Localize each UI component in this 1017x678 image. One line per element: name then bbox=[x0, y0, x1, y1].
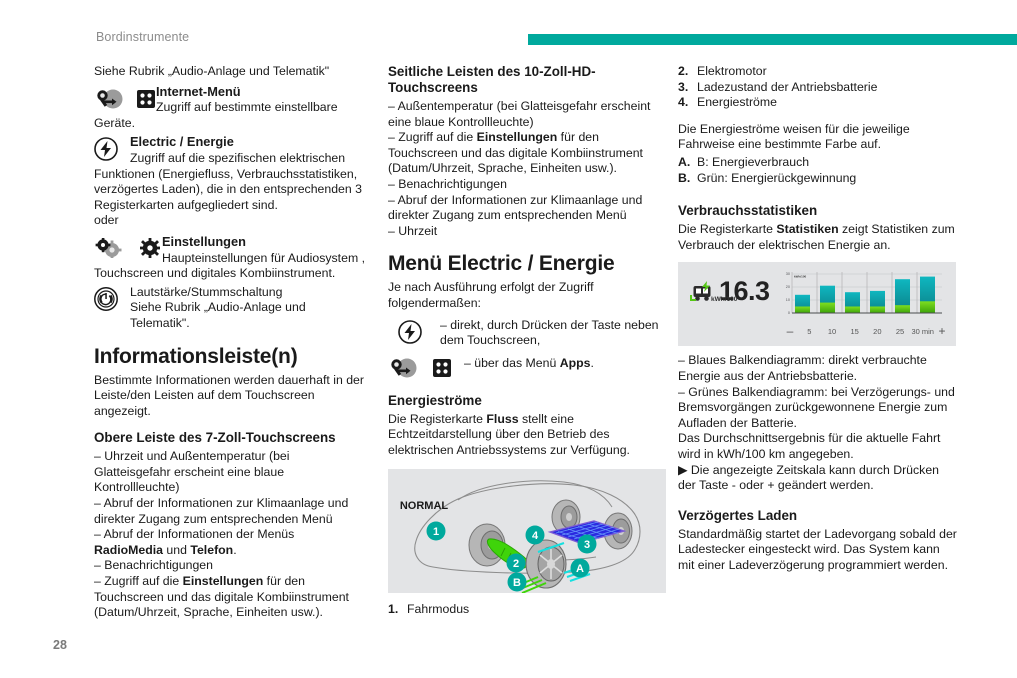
svg-text:3: 3 bbox=[584, 539, 590, 551]
settings-text: Einstellungen Haupteinstellungen für Aud… bbox=[162, 234, 366, 266]
bullet-radio-mid: und bbox=[163, 543, 190, 557]
menu-electric-icon-wrap bbox=[388, 318, 440, 344]
entry-settings: Einstellungen Haupteinstellungen für Aud… bbox=[94, 234, 366, 266]
electric-energy-icon bbox=[398, 320, 422, 344]
column-left: Siehe Rubrik „Audio-Anlage und Telematik… bbox=[94, 64, 366, 621]
internet-menu-desc-cont: Geräte. bbox=[94, 116, 366, 132]
list-item: 3. Ladezustand der Antriebsbatterie bbox=[678, 80, 958, 96]
callout-B: B bbox=[508, 572, 527, 591]
verbrauch-bold: Statistiken bbox=[776, 222, 838, 236]
volume-line2: Siehe Rubrik „Audio-Anlage und Telematik… bbox=[130, 300, 306, 330]
caption-number: 1. bbox=[388, 602, 407, 618]
double-gear-icon bbox=[94, 238, 124, 258]
bullet-klimaanlage: – Abruf der Informationen zur Klimaanlag… bbox=[94, 496, 366, 527]
item-label: B: Energieverbrauch bbox=[697, 155, 958, 171]
gear-icon bbox=[140, 238, 160, 258]
bullet-uhrzeit-aussentemp: – Uhrzeit und Außentemperatur (bei Glatt… bbox=[94, 449, 366, 496]
apps-opt-bold: Apps bbox=[560, 356, 591, 370]
entry-volume-mute: Lautstärke/Stummschaltung Siehe Rubrik „… bbox=[94, 285, 366, 332]
c2-settings-pre: – Zugriff auf die bbox=[388, 130, 477, 144]
decrease-timescale-button[interactable]: – bbox=[782, 324, 798, 340]
bullet-benachrichtigungen: – Benachrichtigungen bbox=[94, 558, 366, 574]
axis-tick: 15 bbox=[843, 324, 866, 340]
menu-option-direct: – direkt, durch Drücken der Taste neben … bbox=[388, 318, 666, 349]
energy-flow-illustration: NORMAL 1 4 2 3 A bbox=[388, 469, 666, 593]
svg-text:B: B bbox=[513, 577, 521, 589]
internet-menu-icons bbox=[94, 84, 156, 110]
callout-4: 4 bbox=[526, 525, 545, 544]
electric-line1: Zugriff auf die spezifischen elektrische… bbox=[130, 151, 345, 165]
column-middle: Seitliche Leisten des 10-Zoll-HD-Touchsc… bbox=[388, 64, 666, 617]
heading-obere-leiste: Obere Leiste des 7-Zoll-Touchscreens bbox=[94, 430, 366, 446]
svg-text:kWh/100: kWh/100 bbox=[794, 275, 807, 279]
bullet-klimaanlage-10zoll: – Abruf der Informationen zur Klimaanlag… bbox=[388, 193, 666, 224]
axis-tick: 30 min bbox=[911, 324, 934, 340]
item-label: Elektromotor bbox=[697, 64, 958, 80]
energie-pre: Die Registerkarte bbox=[388, 412, 486, 426]
electric-title: Electric / Energie bbox=[130, 134, 234, 149]
bullet-radio-end: . bbox=[233, 543, 236, 557]
callout-2: 2 bbox=[507, 553, 526, 572]
electric-line3: verzögertes Laden), die in den entsprech… bbox=[94, 182, 366, 198]
figure-caption-1: 1. Fahrmodus bbox=[388, 602, 666, 618]
list-item: B. Grün: Energierückgewinnung bbox=[678, 171, 958, 187]
electric-text: Electric / Energie Zugriff auf die spezi… bbox=[130, 134, 366, 166]
electric-line4: Registerkarten aufgegliedert sind. bbox=[94, 198, 366, 214]
bullet-benachrichtigungen-10zoll: – Benachrichtigungen bbox=[388, 177, 666, 193]
item-number: 4. bbox=[678, 95, 697, 111]
legend-letter-list: A. B: Energieverbrauch B. Grün: Energier… bbox=[678, 155, 958, 186]
bullet-radiomedia: – Abruf der Informationen der Menüs Radi… bbox=[94, 527, 366, 558]
apps-grid-icon bbox=[137, 90, 155, 108]
svg-text:10: 10 bbox=[786, 298, 790, 302]
apps-opt-post: . bbox=[590, 356, 593, 370]
heading-seitliche-leisten: Seitliche Leisten des 10-Zoll-HD-Touchsc… bbox=[388, 64, 666, 96]
item-number: 2. bbox=[678, 64, 697, 80]
bullet-blaues-balkendiagramm: – Blaues Balkendiagramm: direkt verbrauc… bbox=[678, 353, 958, 384]
settings-line1: Haupteinstellungen für Audiosystem , bbox=[162, 251, 365, 265]
internet-menu-desc: Zugriff auf bestimmte einstellbare bbox=[156, 100, 338, 114]
heading-menu-electric-energie: Menü Electric / Energie bbox=[388, 252, 666, 276]
menu-option-apps: – über das Menü Apps. bbox=[388, 354, 666, 379]
legend-number-list: 2. Elektromotor 3. Ladezustand der Antri… bbox=[678, 64, 958, 111]
intro-reference: Siehe Rubrik „Audio-Anlage und Telematik… bbox=[94, 64, 366, 80]
energiestroeme-paragraph: Die Registerkarte Fluss stellt eine Echt… bbox=[388, 412, 666, 459]
menu-apps-icons bbox=[388, 354, 464, 379]
heading-informationsleisten: Informationsleiste(n) bbox=[94, 345, 366, 369]
apps-grid-icon bbox=[433, 359, 451, 377]
verzoegertes-laden-paragraph: Standardmäßig startet der Ladevorgang so… bbox=[678, 527, 958, 574]
apps-search-icon bbox=[388, 357, 418, 379]
electric-icon-wrap bbox=[94, 134, 130, 161]
item-number: 3. bbox=[678, 80, 697, 96]
bullet-einstellungen-10zoll: – Zugriff auf die Einstellungen für den … bbox=[388, 130, 666, 177]
bullet-settings-bold: Einstellungen bbox=[183, 574, 264, 588]
axis-tick: 20 bbox=[866, 324, 889, 340]
callout-A: A bbox=[571, 558, 590, 577]
svg-text:1: 1 bbox=[433, 526, 439, 538]
item-label: Ladezustand der Antriebsbatterie bbox=[697, 80, 958, 96]
list-item: A. B: Energieverbrauch bbox=[678, 155, 958, 171]
bullet-radio-bold1: RadioMedia bbox=[94, 543, 163, 557]
axis-tick: 25 bbox=[889, 324, 912, 340]
item-label: Energieströme bbox=[697, 95, 958, 111]
volume-text: Lautstärke/Stummschaltung Siehe Rubrik „… bbox=[130, 285, 366, 332]
axis-tick: 10 bbox=[821, 324, 844, 340]
svg-text:20: 20 bbox=[786, 285, 790, 289]
bullet-radio-pre: – Abruf der Informationen der Menüs bbox=[94, 527, 294, 541]
wheel-front-left bbox=[526, 540, 566, 588]
farbe-paragraph: Die Energieströme weisen für die jeweili… bbox=[678, 122, 958, 153]
settings-icons bbox=[94, 234, 162, 258]
callout-1: 1 bbox=[427, 521, 446, 540]
electric-energy-icon bbox=[94, 137, 118, 161]
power-volume-icon bbox=[94, 287, 118, 311]
settings-title: Einstellungen bbox=[162, 234, 246, 249]
volume-line1: Lautstärke/Stummschaltung bbox=[130, 285, 282, 299]
durchschnitt-paragraph: Das Durchschnittsergebnis für die aktuel… bbox=[678, 431, 958, 462]
volume-icon-wrap bbox=[94, 285, 130, 311]
drive-mode-label: NORMAL bbox=[400, 500, 449, 512]
heading-verbrauchsstatistiken: Verbrauchsstatistiken bbox=[678, 203, 958, 219]
entry-electric-energie: Electric / Energie Zugriff auf die spezi… bbox=[94, 134, 366, 166]
item-label: Grün: Energierückgewinnung bbox=[697, 171, 958, 187]
apps-search-icon bbox=[94, 88, 124, 110]
svg-text:30: 30 bbox=[786, 272, 790, 276]
axis-tick: 5 bbox=[798, 324, 821, 340]
list-item: 2. Elektromotor bbox=[678, 64, 958, 80]
entry-internet-menu: Internet-Menü Zugriff auf bestimmte eins… bbox=[94, 84, 366, 116]
energy-flow-figure: NORMAL 1 4 2 3 A bbox=[388, 469, 666, 593]
energie-bold: Fluss bbox=[486, 412, 518, 426]
settings-line2: Touchscreen und digitales Kombiinstrumen… bbox=[94, 266, 366, 282]
apps-opt-pre: – über das Menü bbox=[464, 356, 560, 370]
average-consumption-unit: kWh/100 bbox=[711, 292, 737, 308]
menu-option-apps-text: – über das Menü Apps. bbox=[464, 354, 666, 372]
callout-3: 3 bbox=[578, 534, 597, 553]
consumption-statistics-figure: 16.3 kWh/100 bbox=[678, 262, 956, 346]
svg-text:4: 4 bbox=[532, 530, 539, 542]
page-number: 28 bbox=[53, 638, 67, 652]
verbrauch-paragraph: Die Registerkarte Statistiken zeigt Stat… bbox=[678, 222, 958, 253]
bullet-einstellungen: – Zugriff auf die Einstellungen für den … bbox=[94, 574, 366, 621]
caption-text: Fahrmodus bbox=[407, 602, 666, 618]
internet-menu-text: Internet-Menü Zugriff auf bestimmte eins… bbox=[156, 84, 366, 116]
electric-line2: Funktionen (Energiefluss, Verbrauchsstat… bbox=[94, 167, 366, 183]
page-header-title: Bordinstrumente bbox=[96, 30, 189, 44]
chart-time-axis: – 5 10 15 20 25 30 min + bbox=[782, 322, 950, 340]
heading-verzoegertes-laden: Verzögertes Laden bbox=[678, 508, 958, 524]
heading-energiestroeme: Energieströme bbox=[388, 393, 666, 409]
column-right: 2. Elektromotor 3. Ladezustand der Antri… bbox=[678, 64, 958, 573]
c2-settings-bold: Einstellungen bbox=[477, 130, 558, 144]
menu-access-paragraph: Je nach Ausführung erfolgt der Zugriff f… bbox=[388, 280, 666, 311]
menu-option-direct-text: – direkt, durch Drücken der Taste neben … bbox=[440, 318, 666, 349]
item-letter: B. bbox=[678, 171, 697, 187]
bullet-gruenes-balkendiagramm: – Grünes Balkendiagramm: bei Verzögerung… bbox=[678, 385, 958, 432]
svg-text:0: 0 bbox=[788, 311, 790, 315]
bullet-radio-bold2: Telefon bbox=[190, 543, 233, 557]
list-item: 4. Energieströme bbox=[678, 95, 958, 111]
bar-group bbox=[795, 277, 935, 313]
consumption-bar-chart: 30 20 10 0 kWh/100 bbox=[782, 270, 942, 318]
info-paragraph: Bestimmte Informationen werden dauerhaft… bbox=[94, 373, 366, 420]
header-accent-bar bbox=[528, 34, 1017, 45]
internet-menu-title: Internet-Menü bbox=[156, 84, 241, 99]
svg-text:2: 2 bbox=[513, 558, 519, 570]
bullet-settings-pre: – Zugriff auf die bbox=[94, 574, 183, 588]
svg-text:A: A bbox=[576, 563, 584, 575]
item-letter: A. bbox=[678, 155, 697, 171]
bullet-uhrzeit-10zoll: – Uhrzeit bbox=[388, 224, 666, 240]
verbrauch-pre: Die Registerkarte bbox=[678, 222, 776, 236]
zeitskala-note: ▶ Die angezeigte Zeitskala kann durch Dr… bbox=[678, 463, 958, 494]
electric-or: oder bbox=[94, 213, 366, 229]
bullet-aussentemperatur: – Außentemperatur (bei Glatteisgefahr er… bbox=[388, 99, 666, 130]
increase-timescale-button[interactable]: + bbox=[934, 324, 950, 340]
